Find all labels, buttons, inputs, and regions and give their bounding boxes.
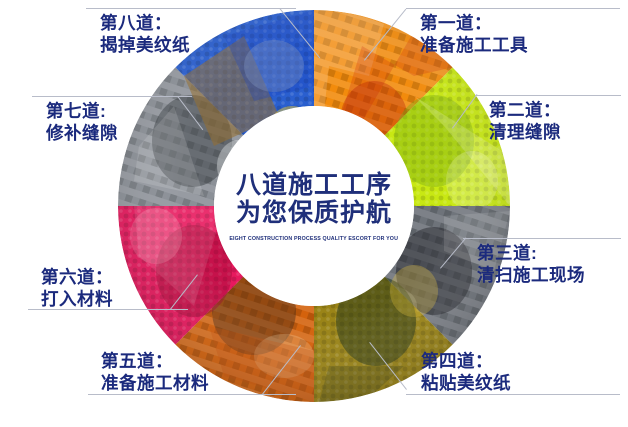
- step-label-8[interactable]: 第八道： 揭掉美纹纸: [100, 12, 190, 56]
- center-title-line1: 八道施工工序: [236, 171, 392, 199]
- step-label-2[interactable]: 第二道： 清理缝隙: [489, 99, 561, 143]
- step-3-name: 清扫施工现场: [477, 264, 585, 286]
- step-8-number: 第八道：: [100, 12, 190, 34]
- step-8-name: 揭掉美纹纸: [100, 34, 190, 56]
- step-7-name: 修补缝隙: [46, 122, 118, 144]
- center-hub: 八道施工工序 为您保质护航 EIGHT CONSTRUCTION PROCESS…: [214, 106, 414, 306]
- step-1-number: 第一道：: [420, 12, 528, 34]
- step-label-6[interactable]: 第六道： 打入材料: [41, 266, 113, 310]
- step-5-name: 准备施工材料: [101, 372, 209, 394]
- step-4-number: 第四道：: [421, 350, 511, 372]
- infographic-canvas: 八道施工工序 为您保质护航 EIGHT CONSTRUCTION PROCESS…: [0, 0, 628, 427]
- leader-rule-2: [475, 95, 621, 96]
- leader-rule-7: [32, 96, 192, 97]
- step-4-name: 粘贴美纹纸: [421, 372, 511, 394]
- step-label-7[interactable]: 第七道: 修补缝隙: [46, 100, 118, 144]
- step-label-1[interactable]: 第一道： 准备施工工具: [420, 12, 528, 56]
- center-title-line2: 为您保质护航: [236, 199, 392, 227]
- leader-rule-3: [463, 238, 621, 239]
- step-7-number: 第七道:: [46, 100, 118, 122]
- step-label-4[interactable]: 第四道： 粘贴美纹纸: [421, 350, 511, 394]
- step-2-name: 清理缝隙: [489, 121, 561, 143]
- step-1-name: 准备施工工具: [420, 34, 528, 56]
- step-5-number: 第五道：: [101, 350, 209, 372]
- leader-rule-1: [406, 8, 620, 9]
- step-label-3[interactable]: 第三道: 清扫施工现场: [477, 242, 585, 286]
- center-subtitle: EIGHT CONSTRUCTION PROCESS QUALITY ESCOR…: [230, 236, 399, 242]
- leader-rule-4: [406, 394, 620, 395]
- step-2-number: 第二道：: [489, 99, 561, 121]
- step-6-name: 打入材料: [41, 288, 113, 310]
- step-6-number: 第六道：: [41, 266, 113, 288]
- step-label-5[interactable]: 第五道： 准备施工材料: [101, 350, 209, 394]
- step-3-number: 第三道:: [477, 242, 585, 264]
- leader-rule-8: [86, 8, 296, 9]
- leader-rule-5: [88, 394, 296, 395]
